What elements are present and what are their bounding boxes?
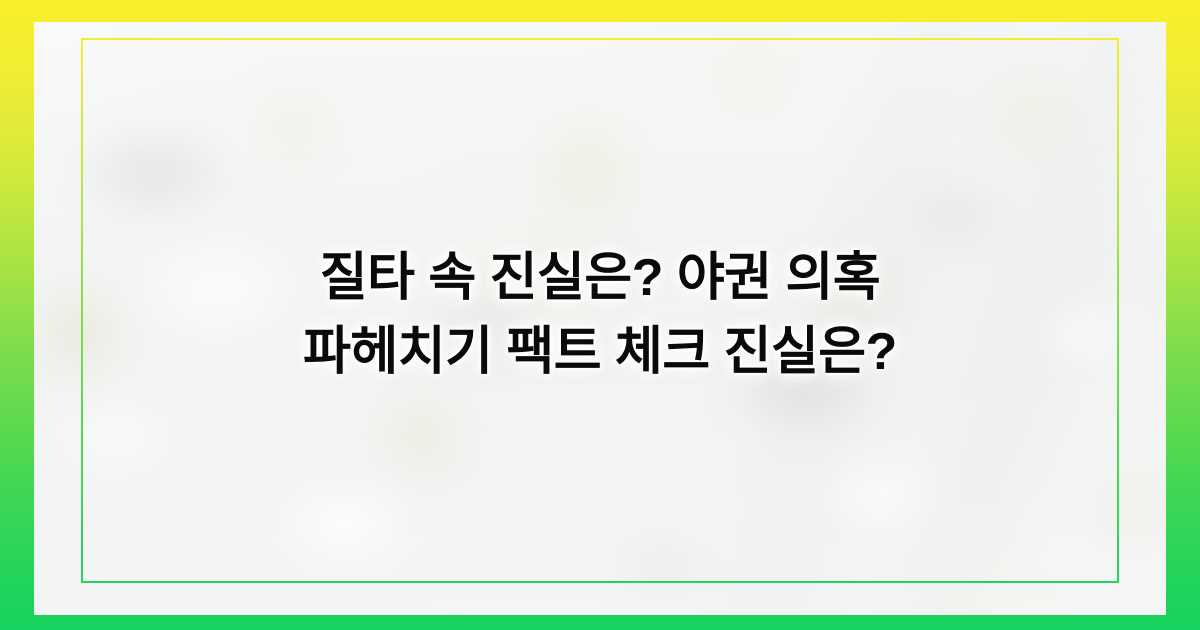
page-title: 질타 속 진실은? 야권 의혹 파헤치기 팩트 체크 진실은? bbox=[300, 241, 900, 389]
headline-container: 질타 속 진실은? 야권 의혹 파헤치기 팩트 체크 진실은? bbox=[0, 0, 1200, 630]
thumbnail-canvas: 질타 속 진실은? 야권 의혹 파헤치기 팩트 체크 진실은? bbox=[0, 0, 1200, 630]
